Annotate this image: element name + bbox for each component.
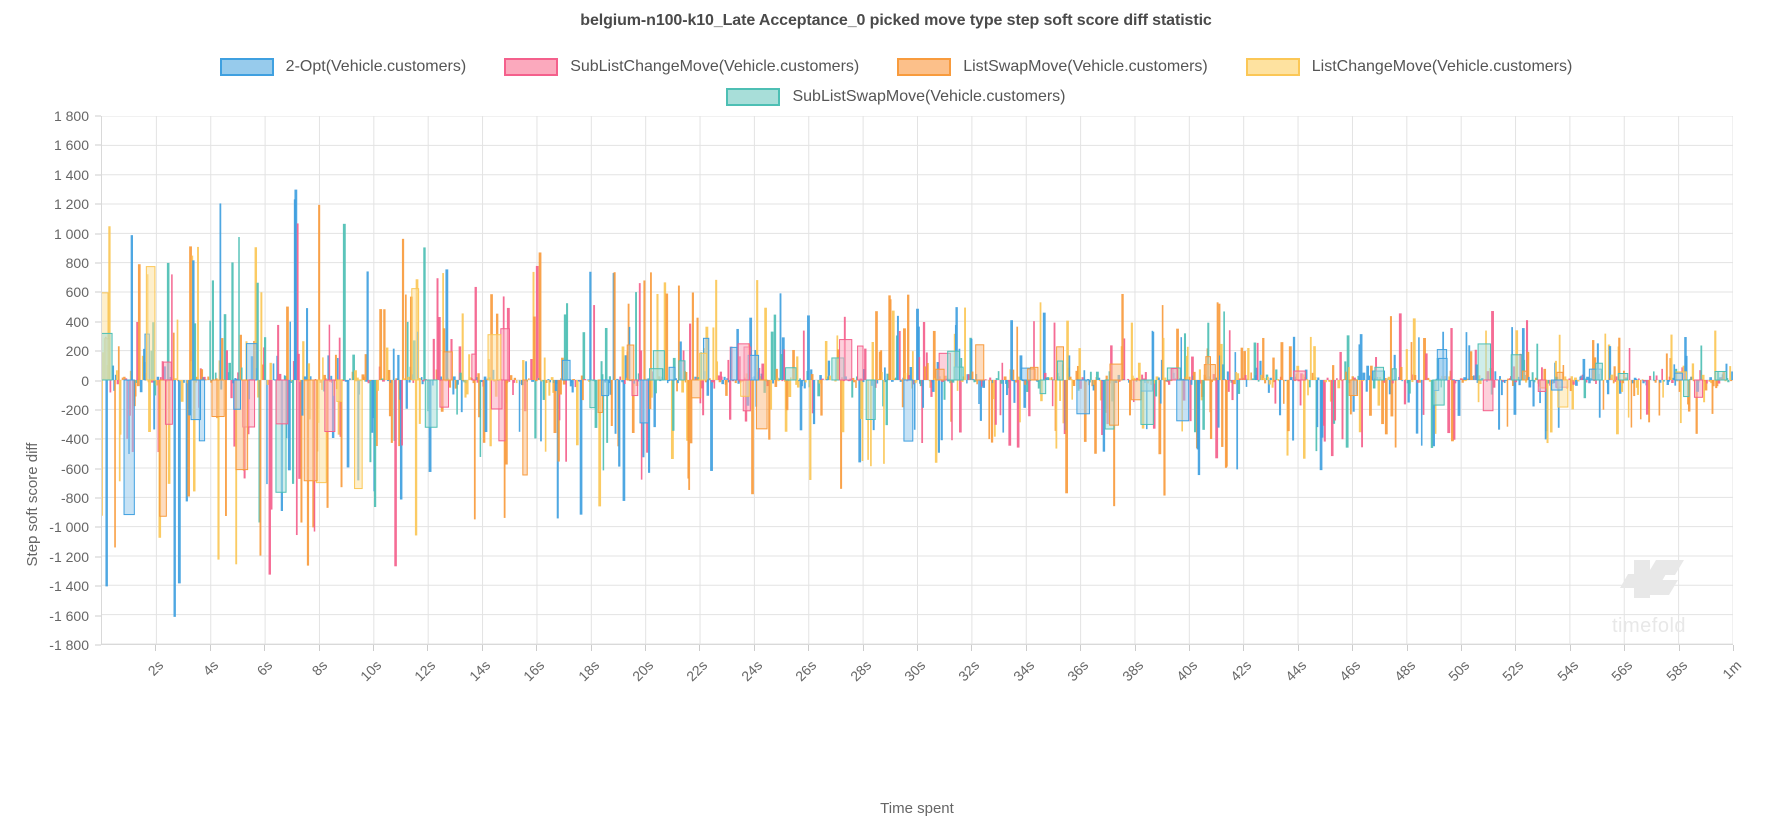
y-tick-label: 1 400	[54, 167, 89, 183]
y-tick-label: 400	[66, 314, 89, 330]
x-tick-label: 58s	[1650, 657, 1690, 697]
y-tick-label: 1 600	[54, 137, 89, 153]
y-tick-mark	[95, 145, 101, 146]
legend-row-2: SubListSwapMove(Vehicle.customers)	[0, 82, 1792, 112]
x-tick-mark	[155, 645, 156, 651]
legend-item-label: SubListChangeMove(Vehicle.customers)	[570, 58, 859, 76]
legend-swatch-icon	[897, 58, 951, 76]
x-tick-mark	[1624, 645, 1625, 651]
x-tick-mark	[482, 645, 483, 651]
x-tick-mark	[591, 645, 592, 651]
x-tick-label: 32s	[943, 657, 983, 697]
y-tick-label: -200	[61, 402, 89, 418]
chart-legend: 2-Opt(Vehicle.customers)SubListChangeMov…	[0, 52, 1792, 112]
x-tick-label: 8s	[290, 657, 330, 697]
y-tick-label: -400	[61, 431, 89, 447]
y-tick-label: -800	[61, 490, 89, 506]
watermark-brand: timefold	[1589, 615, 1709, 638]
y-tick-mark	[95, 233, 101, 234]
x-tick-label: 30s	[889, 657, 929, 697]
plot-wrapper: timefold	[101, 116, 1733, 645]
legend-item[interactable]: SubListChangeMove(Vehicle.customers)	[504, 58, 859, 76]
x-tick-mark	[264, 645, 265, 651]
y-tick-label: 800	[66, 255, 89, 271]
y-tick-label: 1 200	[54, 196, 89, 212]
y-tick-label: -1 000	[49, 519, 89, 535]
x-axis-title: Time spent	[101, 800, 1733, 817]
legend-item[interactable]: SubListSwapMove(Vehicle.customers)	[726, 88, 1065, 106]
x-tick-label: 40s	[1161, 657, 1201, 697]
x-tick-label: 50s	[1433, 657, 1473, 697]
x-tick-mark	[1733, 645, 1734, 651]
y-tick-mark	[95, 204, 101, 205]
x-tick-label: 28s	[834, 657, 874, 697]
y-tick-mark	[95, 351, 101, 352]
y-tick-mark	[95, 615, 101, 616]
y-tick-mark	[95, 468, 101, 469]
x-tick-label: 24s	[726, 657, 766, 697]
x-tick-mark	[1189, 645, 1190, 651]
legend-swatch-icon	[220, 58, 274, 76]
y-tick-mark	[95, 586, 101, 587]
x-tick-label: 12s	[399, 657, 439, 697]
y-tick-mark	[95, 498, 101, 499]
y-tick-mark	[95, 292, 101, 293]
y-tick-label: -1 200	[49, 549, 89, 565]
timefold-watermark: timefold	[1589, 556, 1709, 638]
x-tick-mark	[1352, 645, 1353, 651]
legend-swatch-icon	[726, 88, 780, 106]
y-tick-mark	[95, 174, 101, 175]
y-tick-label: -1 600	[49, 608, 89, 624]
x-tick-label: 20s	[617, 657, 657, 697]
x-tick-mark	[808, 645, 809, 651]
y-tick-mark	[95, 321, 101, 322]
x-tick-label: 1m	[1705, 657, 1745, 697]
x-tick-label: 10s	[345, 657, 385, 697]
x-tick-mark	[1570, 645, 1571, 651]
x-tick-label: 42s	[1215, 657, 1255, 697]
x-tick-label: 2s	[127, 657, 167, 697]
x-axis: 2s4s6s8s10s12s14s16s18s20s22s24s26s28s30…	[101, 645, 1733, 765]
x-tick-label: 54s	[1542, 657, 1582, 697]
plot-area[interactable]: timefold	[101, 116, 1733, 645]
x-tick-label: 46s	[1324, 657, 1364, 697]
x-tick-label: 44s	[1270, 657, 1310, 697]
x-tick-label: 52s	[1487, 657, 1527, 697]
y-tick-mark	[95, 380, 101, 381]
y-tick-mark	[95, 439, 101, 440]
x-tick-label: 36s	[1052, 657, 1092, 697]
x-tick-mark	[536, 645, 537, 651]
legend-swatch-icon	[1246, 58, 1300, 76]
x-tick-mark	[1298, 645, 1299, 651]
y-tick-label: 1 000	[54, 226, 89, 242]
x-tick-mark	[1407, 645, 1408, 651]
x-tick-label: 18s	[562, 657, 602, 697]
legend-item-label: ListChangeMove(Vehicle.customers)	[1312, 58, 1573, 76]
x-tick-mark	[1080, 645, 1081, 651]
x-tick-label: 38s	[1106, 657, 1146, 697]
x-tick-mark	[319, 645, 320, 651]
x-tick-mark	[971, 645, 972, 651]
y-tick-label: -600	[61, 461, 89, 477]
x-tick-mark	[427, 645, 428, 651]
legend-item-label: ListSwapMove(Vehicle.customers)	[963, 58, 1208, 76]
page-title: belgium-n100-k10_Late Acceptance_0 picke…	[0, 12, 1792, 30]
x-tick-mark	[1461, 645, 1462, 651]
x-tick-mark	[863, 645, 864, 651]
legend-item-label: SubListSwapMove(Vehicle.customers)	[792, 88, 1065, 106]
y-tick-label: 600	[66, 284, 89, 300]
x-tick-mark	[1243, 645, 1244, 651]
x-tick-mark	[1026, 645, 1027, 651]
x-tick-label: 6s	[236, 657, 276, 697]
y-tick-mark	[95, 556, 101, 557]
x-tick-mark	[210, 645, 211, 651]
y-tick-mark	[95, 116, 101, 117]
y-tick-mark	[95, 262, 101, 263]
x-tick-mark	[754, 645, 755, 651]
y-tick-label: 0	[81, 373, 89, 389]
timefold-logo-icon	[1612, 556, 1686, 612]
x-tick-mark	[373, 645, 374, 651]
x-tick-mark	[1679, 645, 1680, 651]
y-axis: Step soft score diff 1 8001 6001 4001 20…	[0, 116, 101, 645]
legend-item[interactable]: ListSwapMove(Vehicle.customers)	[897, 58, 1208, 76]
y-tick-label: 200	[66, 343, 89, 359]
x-tick-label: 14s	[454, 657, 494, 697]
x-tick-label: 22s	[671, 657, 711, 697]
y-tick-label: -1 400	[49, 578, 89, 594]
legend-row-1: 2-Opt(Vehicle.customers)SubListChangeMov…	[0, 52, 1792, 82]
x-tick-mark	[917, 645, 918, 651]
y-tick-mark	[95, 409, 101, 410]
y-axis-title: Step soft score diff	[24, 240, 41, 769]
y-tick-label: -1 800	[49, 637, 89, 653]
x-tick-label: 4s	[182, 657, 222, 697]
chart-container: belgium-n100-k10_Late Acceptance_0 picke…	[0, 0, 1792, 832]
x-tick-label: 16s	[508, 657, 548, 697]
legend-item[interactable]: 2-Opt(Vehicle.customers)	[220, 58, 467, 76]
y-tick-label: 1 800	[54, 108, 89, 124]
x-tick-label: 48s	[1378, 657, 1418, 697]
x-tick-label: 26s	[780, 657, 820, 697]
legend-item[interactable]: ListChangeMove(Vehicle.customers)	[1246, 58, 1573, 76]
x-tick-label: 34s	[998, 657, 1038, 697]
y-tick-mark	[95, 527, 101, 528]
watermark-layer: timefold	[102, 116, 1733, 644]
x-tick-mark	[645, 645, 646, 651]
legend-swatch-icon	[504, 58, 558, 76]
x-tick-mark	[1135, 645, 1136, 651]
x-tick-mark	[699, 645, 700, 651]
x-tick-mark	[1515, 645, 1516, 651]
x-tick-label: 56s	[1596, 657, 1636, 697]
legend-item-label: 2-Opt(Vehicle.customers)	[286, 58, 467, 76]
